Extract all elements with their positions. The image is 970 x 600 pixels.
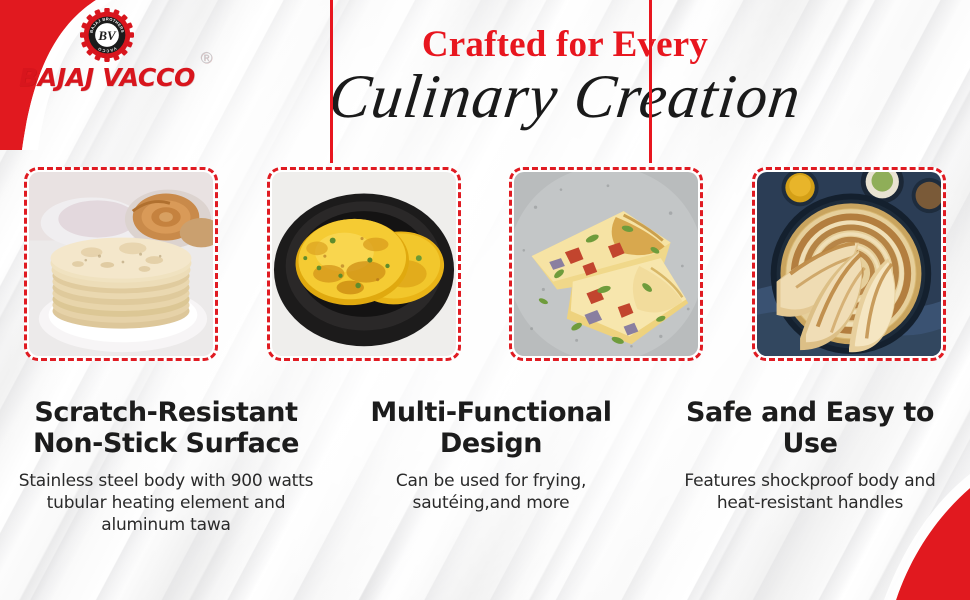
feature-description-3: Features shockproof body and heat-resist… — [662, 471, 958, 515]
feature-column-1: Scratch-Resistant Non-Stick Surface Stai… — [0, 398, 332, 568]
photo-card-folded-omelette — [509, 167, 703, 361]
brand-logo[interactable]: BV BAJAJ BROTHERS VACCO BAJAJ VACCO ® — [12, 8, 202, 92]
feature-divider-1 — [330, 0, 333, 163]
promo-banner: BV BAJAJ BROTHERS VACCO BAJAJ VACCO ® Cr… — [0, 0, 970, 600]
headline-block: Crafted for Every Culinary Creation — [215, 26, 915, 128]
photo-cell-1 — [0, 167, 243, 357]
feature-column-3: Safe and Easy to Use Features shockproof… — [650, 398, 970, 568]
photo-image-besan-chilla — [272, 172, 456, 356]
photo-card-besan-chilla — [267, 167, 461, 361]
photo-card-papad-stack — [24, 167, 218, 361]
gear-emblem-icon: BV BAJAJ BROTHERS VACCO — [80, 8, 134, 62]
feature-title-2: Multi-Functional Design — [344, 398, 638, 459]
feature-column-2: Multi-Functional Design Can be used for … — [332, 398, 650, 568]
svg-text:BV: BV — [97, 28, 117, 43]
photo-cell-3 — [485, 167, 728, 357]
registered-trademark-icon: ® — [200, 50, 212, 68]
photo-cell-4 — [728, 167, 970, 357]
feature-description-2: Can be used for frying, sautéing,and mor… — [344, 471, 638, 515]
photo-image-dosa — [757, 172, 941, 356]
feature-title-3: Safe and Easy to Use — [662, 398, 958, 459]
brand-name-text: BAJAJ VACCO — [19, 63, 195, 92]
feature-columns: Scratch-Resistant Non-Stick Surface Stai… — [0, 398, 970, 568]
photo-image-papad-stack — [29, 172, 213, 356]
photo-image-folded-omelette — [514, 172, 698, 356]
feature-title-1: Scratch-Resistant Non-Stick Surface — [12, 398, 320, 459]
feature-divider-2 — [649, 0, 652, 163]
brand-wordmark: BAJAJ VACCO ® — [19, 63, 195, 92]
photo-card-dosa — [752, 167, 946, 361]
headline-primary: Crafted for Every — [215, 26, 915, 64]
photo-cell-2 — [243, 167, 486, 357]
product-photo-row — [0, 167, 970, 357]
feature-description-1: Stainless steel body with 900 watts tubu… — [12, 471, 320, 536]
headline-script: Culinary Creation — [211, 66, 919, 128]
